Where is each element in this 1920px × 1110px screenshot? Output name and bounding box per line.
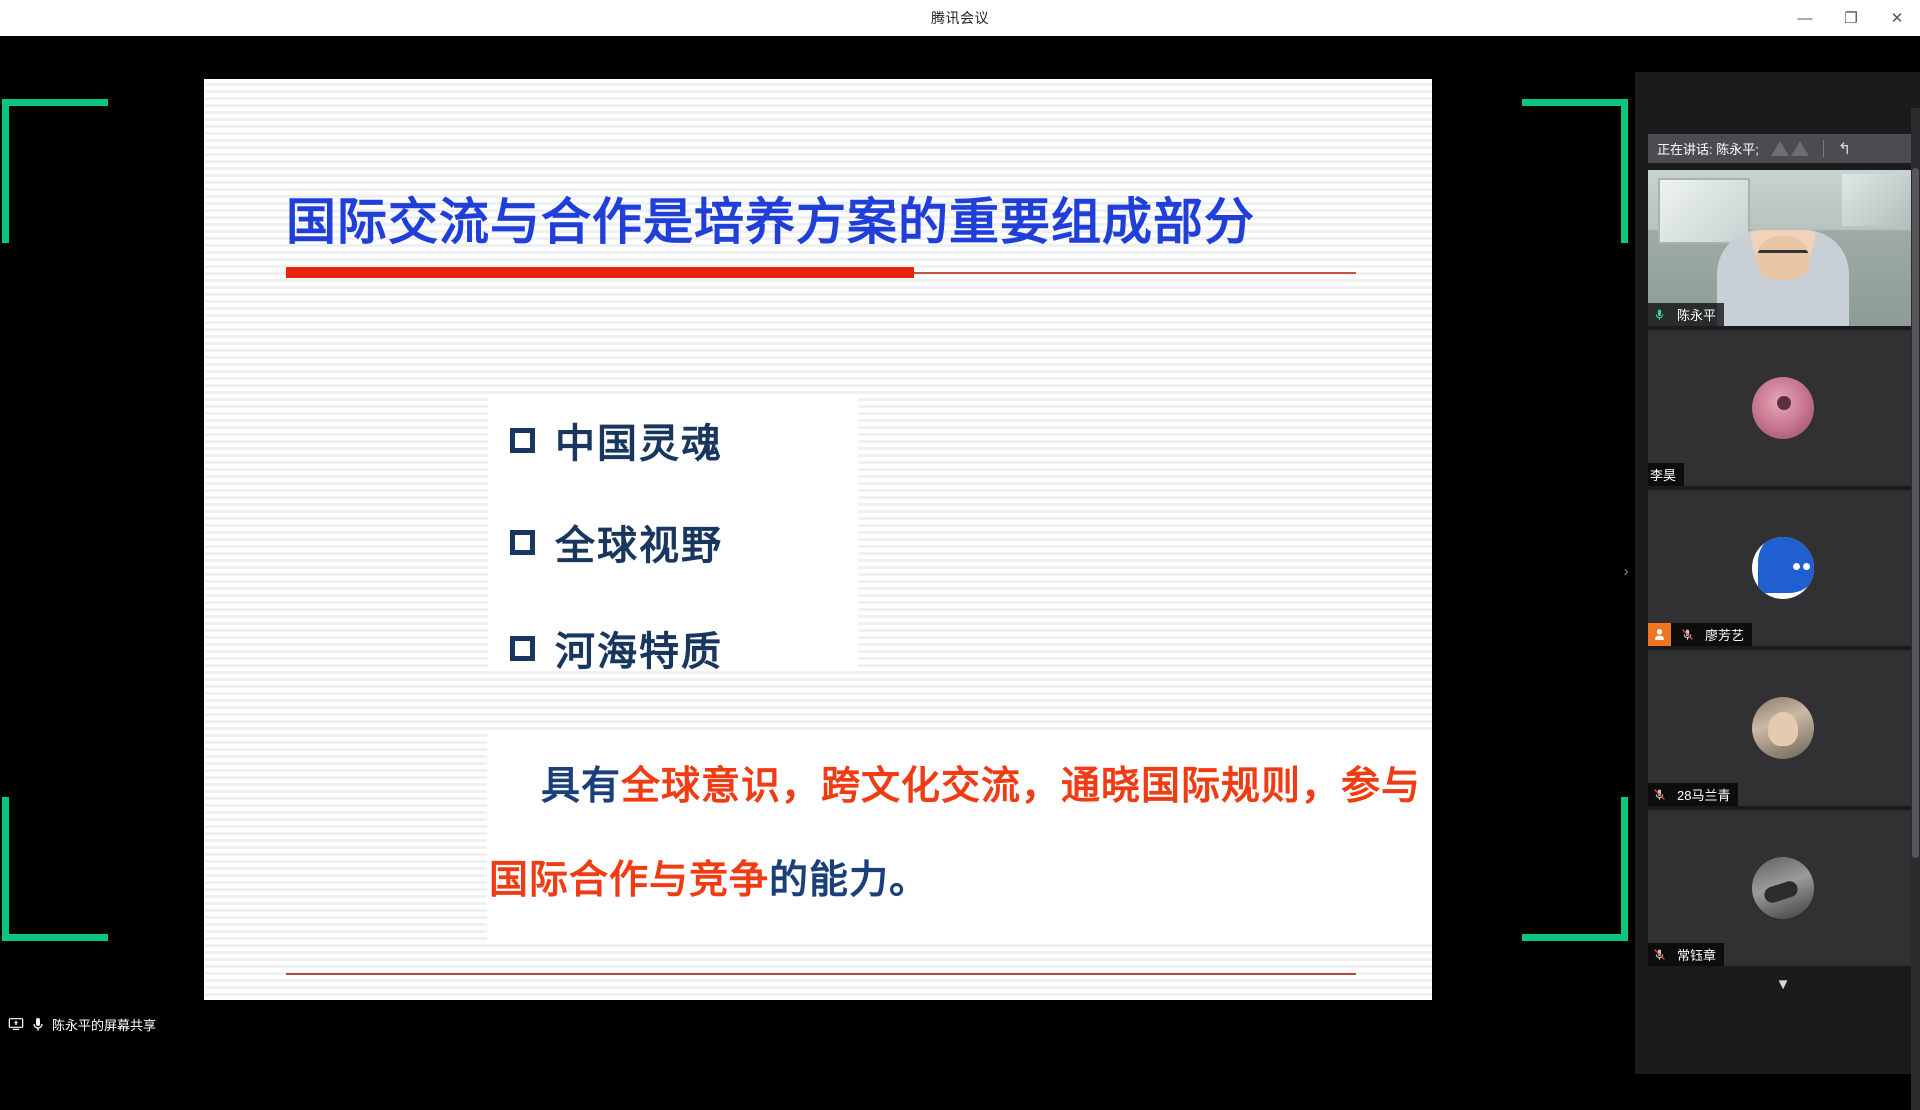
undo-arrow-icon[interactable]: ↰	[1838, 139, 1851, 159]
checkbox-square-icon	[510, 530, 535, 555]
participant-label: 常钰章	[1648, 943, 1724, 966]
slide-body-line-2: 国际合作与竞争的能力。	[489, 849, 929, 905]
participant-label: 李昊	[1648, 463, 1684, 486]
participant-label: 廖芳艺	[1648, 623, 1752, 646]
bullet-item: 河海特质	[510, 619, 723, 677]
window-title: 腾讯会议	[931, 8, 989, 28]
slide-bullet-panel: 中国灵魂 全球视野 河海特质	[488, 397, 858, 667]
slide-title: 国际交流与合作是培养方案的重要组成部分	[286, 182, 1255, 254]
body-segment-highlight: 国际合作与竞争	[489, 859, 769, 902]
participant-tile[interactable]: 廖芳艺	[1648, 490, 1918, 646]
avatar	[1752, 537, 1814, 599]
minimize-button[interactable]: —	[1782, 0, 1828, 36]
person-silhouette-icon	[1717, 230, 1849, 326]
mic-muted-icon	[1676, 627, 1698, 642]
share-corner-top-left-icon	[2, 99, 108, 243]
screen-share-icon	[8, 1016, 24, 1032]
share-stage: 国际交流与合作是培养方案的重要组成部分 中国灵魂 全球视野 河海特质 具有全球意…	[0, 36, 1920, 1038]
bullet-item: 全球视野	[510, 513, 723, 571]
audio-wave-icon	[1771, 141, 1809, 156]
share-corner-top-right-icon	[1522, 99, 1628, 243]
window-titlebar: 腾讯会议 — ❐ ✕	[0, 0, 1920, 36]
shared-slide: 国际交流与合作是培养方案的重要组成部分 中国灵魂 全球视野 河海特质 具有全球意…	[204, 79, 1432, 1000]
participant-name: 常钰章	[1675, 945, 1716, 964]
bullet-label: 全球视野	[555, 513, 723, 571]
participant-tile[interactable]: 李昊	[1648, 330, 1918, 486]
participant-name: 陈永平	[1675, 305, 1716, 324]
participant-name: 李昊	[1648, 465, 1676, 484]
checkbox-square-icon	[510, 636, 535, 661]
participant-tile[interactable]: 28马兰青	[1648, 650, 1918, 806]
rail-collapse-chevron-right-icon[interactable]: ›	[1619, 548, 1633, 594]
active-speaker-label: 正在讲话: 陈永平;	[1657, 139, 1759, 158]
participant-label: 陈永平	[1648, 303, 1724, 326]
divider	[1823, 140, 1824, 157]
participant-rail: 正在讲话: 陈永平; ↰ 陈永平 李昊	[1635, 72, 1920, 1074]
slide-footer-rule	[286, 973, 1356, 975]
host-badge-icon	[1648, 623, 1671, 646]
body-segment-highlight: 全球意识，跨文化交流，通晓国际规则，参与	[621, 765, 1421, 808]
participant-tile[interactable]: 陈永平	[1648, 170, 1918, 326]
body-segment: 具有	[541, 765, 621, 808]
bullet-item: 中国灵魂	[510, 411, 723, 469]
screen-share-statusbar: 陈永平的屏幕共享	[0, 1010, 1635, 1038]
restore-button[interactable]: ❐	[1828, 0, 1874, 36]
avatar	[1752, 697, 1814, 759]
checkbox-square-icon	[510, 428, 535, 453]
rail-scrollbar[interactable]	[1911, 108, 1920, 1110]
avatar	[1752, 857, 1814, 919]
participant-name: 28马兰青	[1675, 785, 1730, 804]
participant-name: 廖芳艺	[1703, 625, 1744, 644]
scroll-down-chevron-icon[interactable]: ▼	[1648, 967, 1918, 1001]
slide-body-panel: 具有全球意识，跨文化交流，通晓国际规则，参与 国际合作与竞争的能力。	[487, 731, 1432, 941]
video-placeholder	[1648, 330, 1918, 486]
avatar	[1752, 377, 1814, 439]
mic-muted-icon	[1648, 947, 1670, 962]
participant-tile[interactable]: 常钰章	[1648, 810, 1918, 966]
share-corner-bottom-right-icon	[1522, 797, 1628, 941]
mic-on-icon	[30, 1016, 46, 1032]
slide-body-line-1: 具有全球意识，跨文化交流，通晓国际规则，参与	[541, 755, 1421, 811]
share-corner-bottom-left-icon	[2, 797, 108, 941]
participant-label: 28马兰青	[1648, 783, 1738, 806]
bullet-label: 河海特质	[555, 619, 723, 677]
bullet-label: 中国灵魂	[555, 411, 723, 469]
body-segment: 的能力。	[769, 859, 929, 902]
mic-on-icon	[1648, 307, 1670, 322]
active-speaker-banner: 正在讲话: 陈永平; ↰	[1648, 134, 1918, 163]
mic-muted-icon	[1648, 787, 1670, 802]
share-status-text: 陈永平的屏幕共享	[52, 1015, 156, 1034]
window-controls: — ❐ ✕	[1782, 0, 1920, 36]
slide-title-accent-bar	[286, 267, 914, 278]
close-button[interactable]: ✕	[1874, 0, 1920, 36]
